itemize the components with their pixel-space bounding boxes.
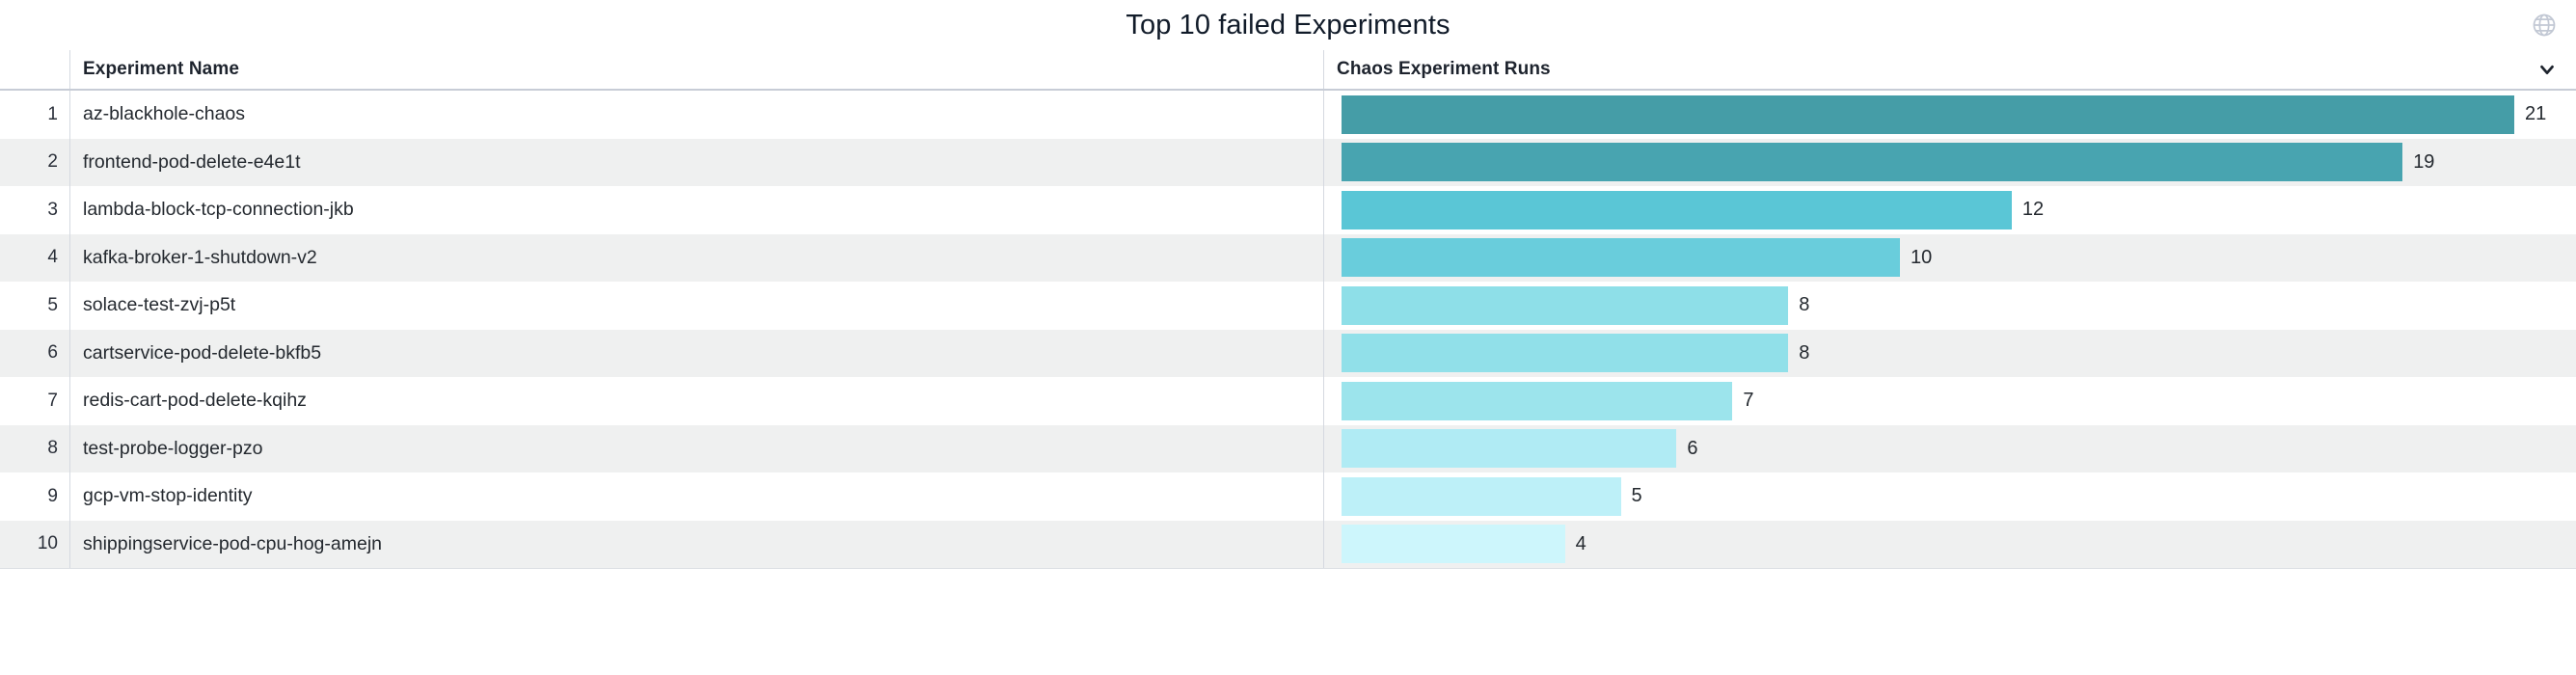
- bar-value-label: 12: [2012, 199, 2044, 221]
- bar[interactable]: [1342, 143, 2402, 181]
- table-row[interactable]: 1az-blackhole-chaos21: [0, 91, 2576, 139]
- bar[interactable]: [1342, 191, 2012, 229]
- bar[interactable]: [1342, 525, 1565, 563]
- chaos-experiment-runs-cell: 10: [1323, 234, 2576, 283]
- bar-track: 12: [1342, 186, 2576, 234]
- row-index: 5: [0, 282, 69, 330]
- bar-value-label: 10: [1900, 247, 1932, 269]
- column-header-index: [0, 50, 69, 89]
- experiment-name-cell[interactable]: shippingservice-pod-cpu-hog-amejn: [69, 521, 1323, 569]
- table-header-row: Experiment Name Chaos Experiment Runs: [0, 50, 2576, 91]
- bar-track: 19: [1342, 139, 2576, 187]
- bar-value-label: 21: [2514, 103, 2546, 125]
- experiment-name-cell[interactable]: az-blackhole-chaos: [69, 91, 1323, 139]
- bar-value-label: 6: [1676, 438, 1697, 460]
- experiment-name-cell[interactable]: solace-test-zvj-p5t: [69, 282, 1323, 330]
- bar-value-label: 19: [2402, 151, 2434, 174]
- row-index: 9: [0, 472, 69, 521]
- experiment-name-cell[interactable]: cartservice-pod-delete-bkfb5: [69, 330, 1323, 378]
- table-row[interactable]: 9gcp-vm-stop-identity5: [0, 472, 2576, 521]
- row-index: 7: [0, 377, 69, 425]
- chaos-experiment-runs-cell: 6: [1323, 425, 2576, 473]
- bar[interactable]: [1342, 382, 1732, 420]
- column-header-experiment-name[interactable]: Experiment Name: [69, 50, 1323, 89]
- table-row[interactable]: 7redis-cart-pod-delete-kqihz7: [0, 377, 2576, 425]
- bar-value-label: 8: [1788, 294, 1809, 316]
- bar-value-label: 7: [1732, 390, 1753, 412]
- bar-track: 21: [1342, 91, 2576, 139]
- bar-track: 8: [1342, 282, 2576, 330]
- bar[interactable]: [1342, 477, 1621, 516]
- globe-icon[interactable]: [2530, 11, 2559, 40]
- table-row[interactable]: 4kafka-broker-1-shutdown-v210: [0, 234, 2576, 283]
- bar-track: 4: [1342, 521, 2576, 569]
- experiment-name-cell[interactable]: lambda-block-tcp-connection-jkb: [69, 186, 1323, 234]
- bar[interactable]: [1342, 238, 1900, 277]
- row-index: 4: [0, 234, 69, 283]
- page-title: Top 10 failed Experiments: [1125, 12, 1450, 40]
- bar[interactable]: [1342, 429, 1676, 468]
- table-row[interactable]: 10shippingservice-pod-cpu-hog-amejn4: [0, 521, 2576, 569]
- panel-header: Top 10 failed Experiments: [0, 0, 2576, 50]
- table-row[interactable]: 2frontend-pod-delete-e4e1t19: [0, 139, 2576, 187]
- table-bottom-divider: [0, 568, 2576, 569]
- row-index: 8: [0, 425, 69, 473]
- bar-value-label: 5: [1621, 485, 1642, 507]
- table-row[interactable]: 3lambda-block-tcp-connection-jkb12: [0, 186, 2576, 234]
- experiment-name-cell[interactable]: redis-cart-pod-delete-kqihz: [69, 377, 1323, 425]
- experiment-name-cell[interactable]: gcp-vm-stop-identity: [69, 472, 1323, 521]
- experiment-name-cell[interactable]: test-probe-logger-pzo: [69, 425, 1323, 473]
- table-row[interactable]: 5solace-test-zvj-p5t8: [0, 282, 2576, 330]
- row-index: 2: [0, 139, 69, 187]
- chaos-experiment-runs-cell: 8: [1323, 282, 2576, 330]
- table-row[interactable]: 8test-probe-logger-pzo6: [0, 425, 2576, 473]
- bar[interactable]: [1342, 334, 1788, 372]
- row-index: 1: [0, 91, 69, 139]
- chaos-experiment-runs-cell: 21: [1323, 91, 2576, 139]
- table-row[interactable]: 6cartservice-pod-delete-bkfb58: [0, 330, 2576, 378]
- row-index: 6: [0, 330, 69, 378]
- experiment-name-cell[interactable]: kafka-broker-1-shutdown-v2: [69, 234, 1323, 283]
- failed-experiments-panel: Top 10 failed Experiments Experiment Nam…: [0, 0, 2576, 675]
- row-index: 10: [0, 521, 69, 569]
- bar-track: 10: [1342, 234, 2576, 283]
- bar-track: 8: [1342, 330, 2576, 378]
- chevron-down-icon[interactable]: [2535, 58, 2559, 81]
- bar-track: 5: [1342, 472, 2576, 521]
- experiment-name-cell[interactable]: frontend-pod-delete-e4e1t: [69, 139, 1323, 187]
- chaos-experiment-runs-cell: 8: [1323, 330, 2576, 378]
- chaos-experiment-runs-cell: 12: [1323, 186, 2576, 234]
- bar-track: 6: [1342, 425, 2576, 473]
- table-body: 1az-blackhole-chaos212frontend-pod-delet…: [0, 91, 2576, 568]
- column-header-experiment-name-label: Experiment Name: [83, 59, 239, 80]
- bar[interactable]: [1342, 286, 1788, 325]
- row-index: 3: [0, 186, 69, 234]
- chaos-experiment-runs-cell: 5: [1323, 472, 2576, 521]
- chaos-experiment-runs-cell: 7: [1323, 377, 2576, 425]
- bar[interactable]: [1342, 95, 2514, 134]
- bar-track: 7: [1342, 377, 2576, 425]
- chaos-experiment-runs-cell: 19: [1323, 139, 2576, 187]
- column-header-chaos-experiment-runs[interactable]: Chaos Experiment Runs: [1323, 50, 2576, 89]
- chaos-experiment-runs-cell: 4: [1323, 521, 2576, 569]
- column-header-chaos-experiment-runs-label: Chaos Experiment Runs: [1337, 59, 1551, 80]
- bar-value-label: 4: [1565, 533, 1586, 555]
- experiments-table: Experiment Name Chaos Experiment Runs 1a…: [0, 50, 2576, 569]
- bar-value-label: 8: [1788, 342, 1809, 364]
